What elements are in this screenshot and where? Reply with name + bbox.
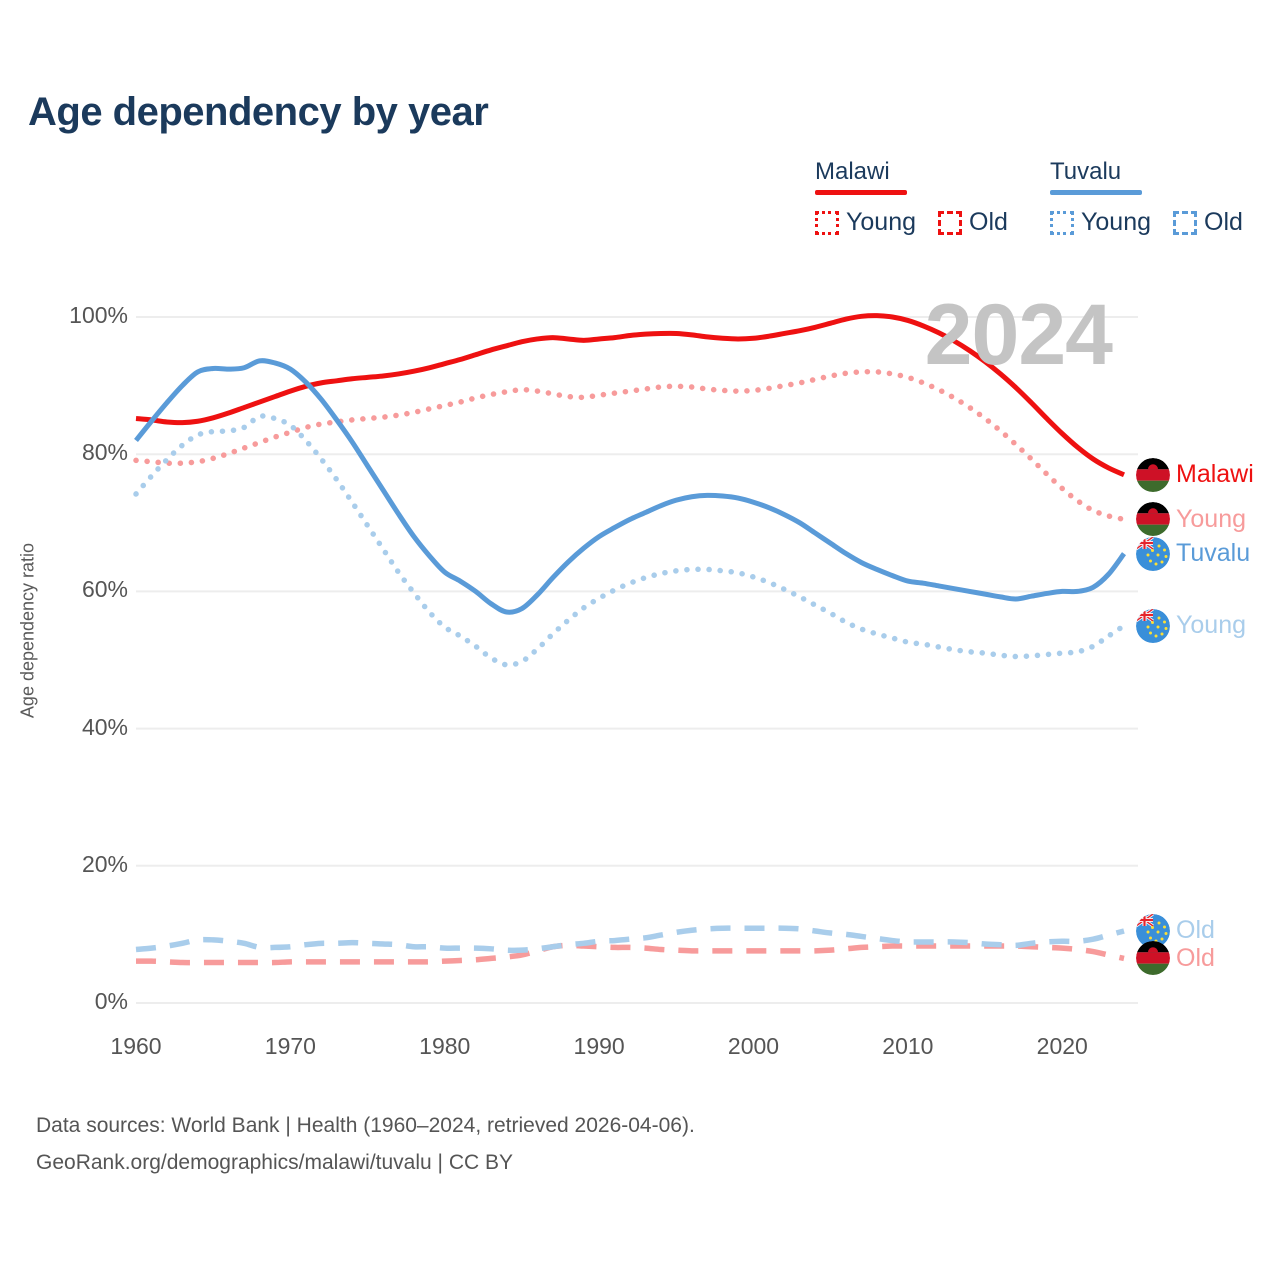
malawi-flag-icon	[1136, 458, 1170, 492]
line-chart-svg	[0, 0, 1280, 1280]
x-tick-label: 2020	[1002, 1033, 1122, 1060]
x-tick-label: 1980	[385, 1033, 505, 1060]
end-label-text: Young	[1176, 507, 1246, 532]
chart-root: Age dependency by year Malawi Young Old …	[0, 0, 1280, 1280]
footer-data-sources: Data sources: World Bank | Health (1960–…	[36, 1108, 695, 1145]
x-tick-label: 2000	[694, 1033, 814, 1060]
series-end-label[interactable]: Malawi	[1136, 458, 1254, 492]
plot-area: 2024 Age dependency ratio 0%20%40%60%80%…	[0, 0, 1280, 1280]
malawi-flag-icon	[1136, 941, 1170, 975]
x-tick-label: 1990	[539, 1033, 659, 1060]
year-watermark: 2024	[925, 292, 1112, 378]
end-label-text: Tuvalu	[1176, 541, 1250, 566]
y-axis-title: Age dependency ratio	[18, 531, 39, 731]
end-label-text: Young	[1176, 613, 1246, 638]
malawi-flag-icon	[1136, 458, 1170, 492]
series-line	[136, 361, 1124, 613]
x-tick-label: 1960	[76, 1033, 196, 1060]
end-label-text: Old	[1176, 918, 1215, 943]
chart-footer: Data sources: World Bank | Health (1960–…	[36, 1108, 695, 1182]
tuvalu-flag-icon	[1136, 537, 1170, 571]
malawi-flag-icon	[1136, 502, 1170, 536]
end-label-text: Malawi	[1176, 462, 1254, 487]
x-tick-label: 1970	[230, 1033, 350, 1060]
y-tick-label: 0%	[38, 988, 128, 1015]
y-tick-label: 100%	[38, 302, 128, 329]
y-tick-label: 60%	[38, 576, 128, 603]
malawi-flag-icon	[1136, 502, 1170, 536]
tuvalu-flag-icon	[1136, 609, 1170, 643]
x-tick-label: 2010	[848, 1033, 968, 1060]
series-end-label[interactable]: Old	[1136, 941, 1215, 975]
y-tick-label: 20%	[38, 851, 128, 878]
tuvalu-flag-icon	[1136, 609, 1170, 643]
footer-attribution[interactable]: GeoRank.org/demographics/malawi/tuvalu |…	[36, 1145, 695, 1182]
tuvalu-flag-icon	[1136, 537, 1170, 571]
malawi-flag-icon	[1136, 941, 1170, 975]
series-end-label[interactable]: Young	[1136, 502, 1246, 536]
end-label-text: Old	[1176, 946, 1215, 971]
y-tick-label: 40%	[38, 714, 128, 741]
series-end-label[interactable]: Young	[1136, 609, 1246, 643]
series-end-label[interactable]: Tuvalu	[1136, 537, 1250, 571]
y-tick-label: 80%	[38, 439, 128, 466]
